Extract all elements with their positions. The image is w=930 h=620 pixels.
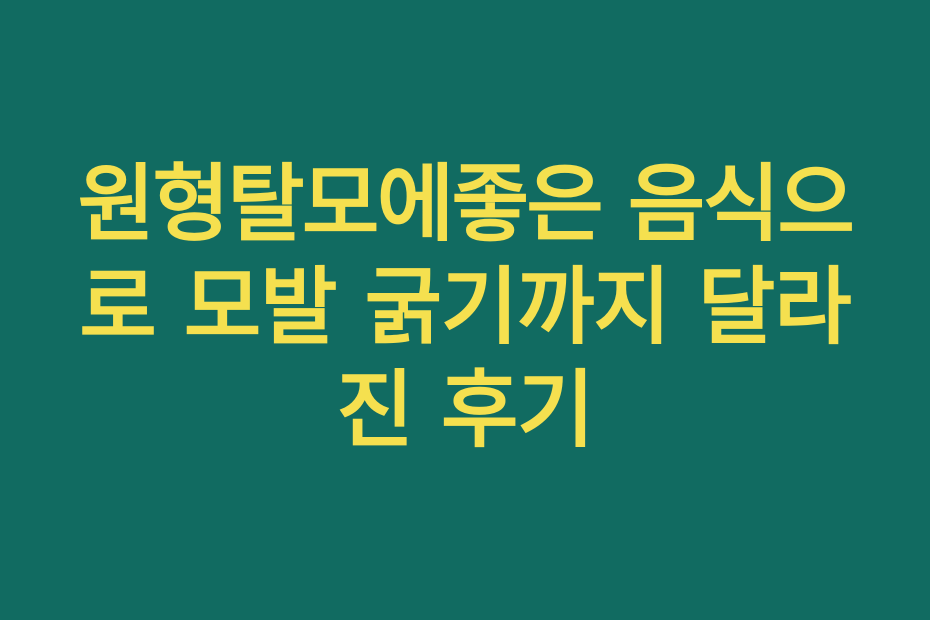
page-title: 원형탈모에좋은 음식으 로 모발 굵기까지 달라 진 후기 — [0, 153, 930, 462]
title-line-1: 원형탈모에좋은 음식으 — [40, 153, 890, 256]
title-line-3: 진 후기 — [40, 359, 890, 462]
title-line-2: 로 모발 굵기까지 달라 — [40, 256, 890, 359]
title-card: 원형탈모에좋은 음식으 로 모발 굵기까지 달라 진 후기 — [0, 0, 930, 620]
